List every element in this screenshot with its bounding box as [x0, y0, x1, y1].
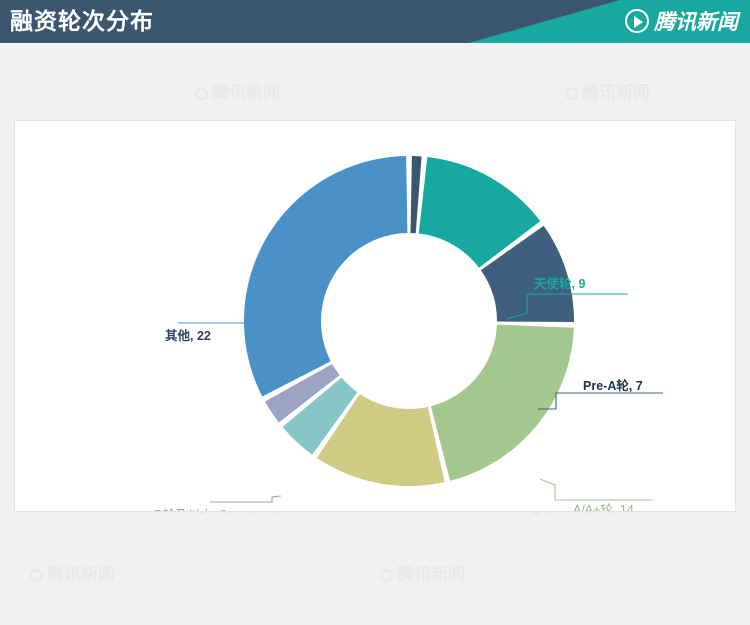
slice-label-other: 其他, 22	[165, 329, 211, 343]
play-circle-icon	[565, 87, 578, 100]
play-circle-icon	[625, 9, 649, 33]
page-header: 融资轮次分布 腾讯新闻	[0, 0, 750, 43]
slice-label-a: A/A+轮, 14	[573, 503, 634, 512]
slice-label-d: D轮及以上, 2	[154, 508, 227, 512]
donut-slice[interactable]	[411, 156, 422, 233]
watermark: 腾讯新闻	[565, 78, 650, 103]
brand-logo: 腾讯新闻	[625, 5, 738, 37]
donut-svg	[239, 151, 579, 491]
watermark: 腾讯新闻	[380, 560, 465, 585]
donut-slice[interactable]	[431, 325, 574, 481]
brand-name: 腾讯新闻	[654, 6, 738, 36]
play-circle-icon	[195, 87, 208, 100]
play-circle-icon	[380, 569, 393, 582]
donut-slices-container	[239, 151, 579, 491]
donut-chart: 其他, 22 天使轮, 9 Pre-A轮, 7 A/A+轮, 14 B/B+轮,…	[15, 121, 736, 512]
leader-line	[210, 496, 281, 502]
donut-slice[interactable]	[244, 156, 407, 396]
play-circle-icon	[30, 569, 43, 582]
slice-label-angel: 天使轮, 9	[534, 277, 585, 291]
chart-card: 其他, 22 天使轮, 9 Pre-A轮, 7 A/A+轮, 14 B/B+轮,…	[14, 120, 736, 512]
page-title: 融资轮次分布	[10, 5, 154, 37]
slice-label-pre-a: Pre-A轮, 7	[583, 379, 643, 393]
watermark: 腾讯新闻	[30, 560, 115, 585]
watermark: 腾讯新闻	[195, 78, 280, 103]
